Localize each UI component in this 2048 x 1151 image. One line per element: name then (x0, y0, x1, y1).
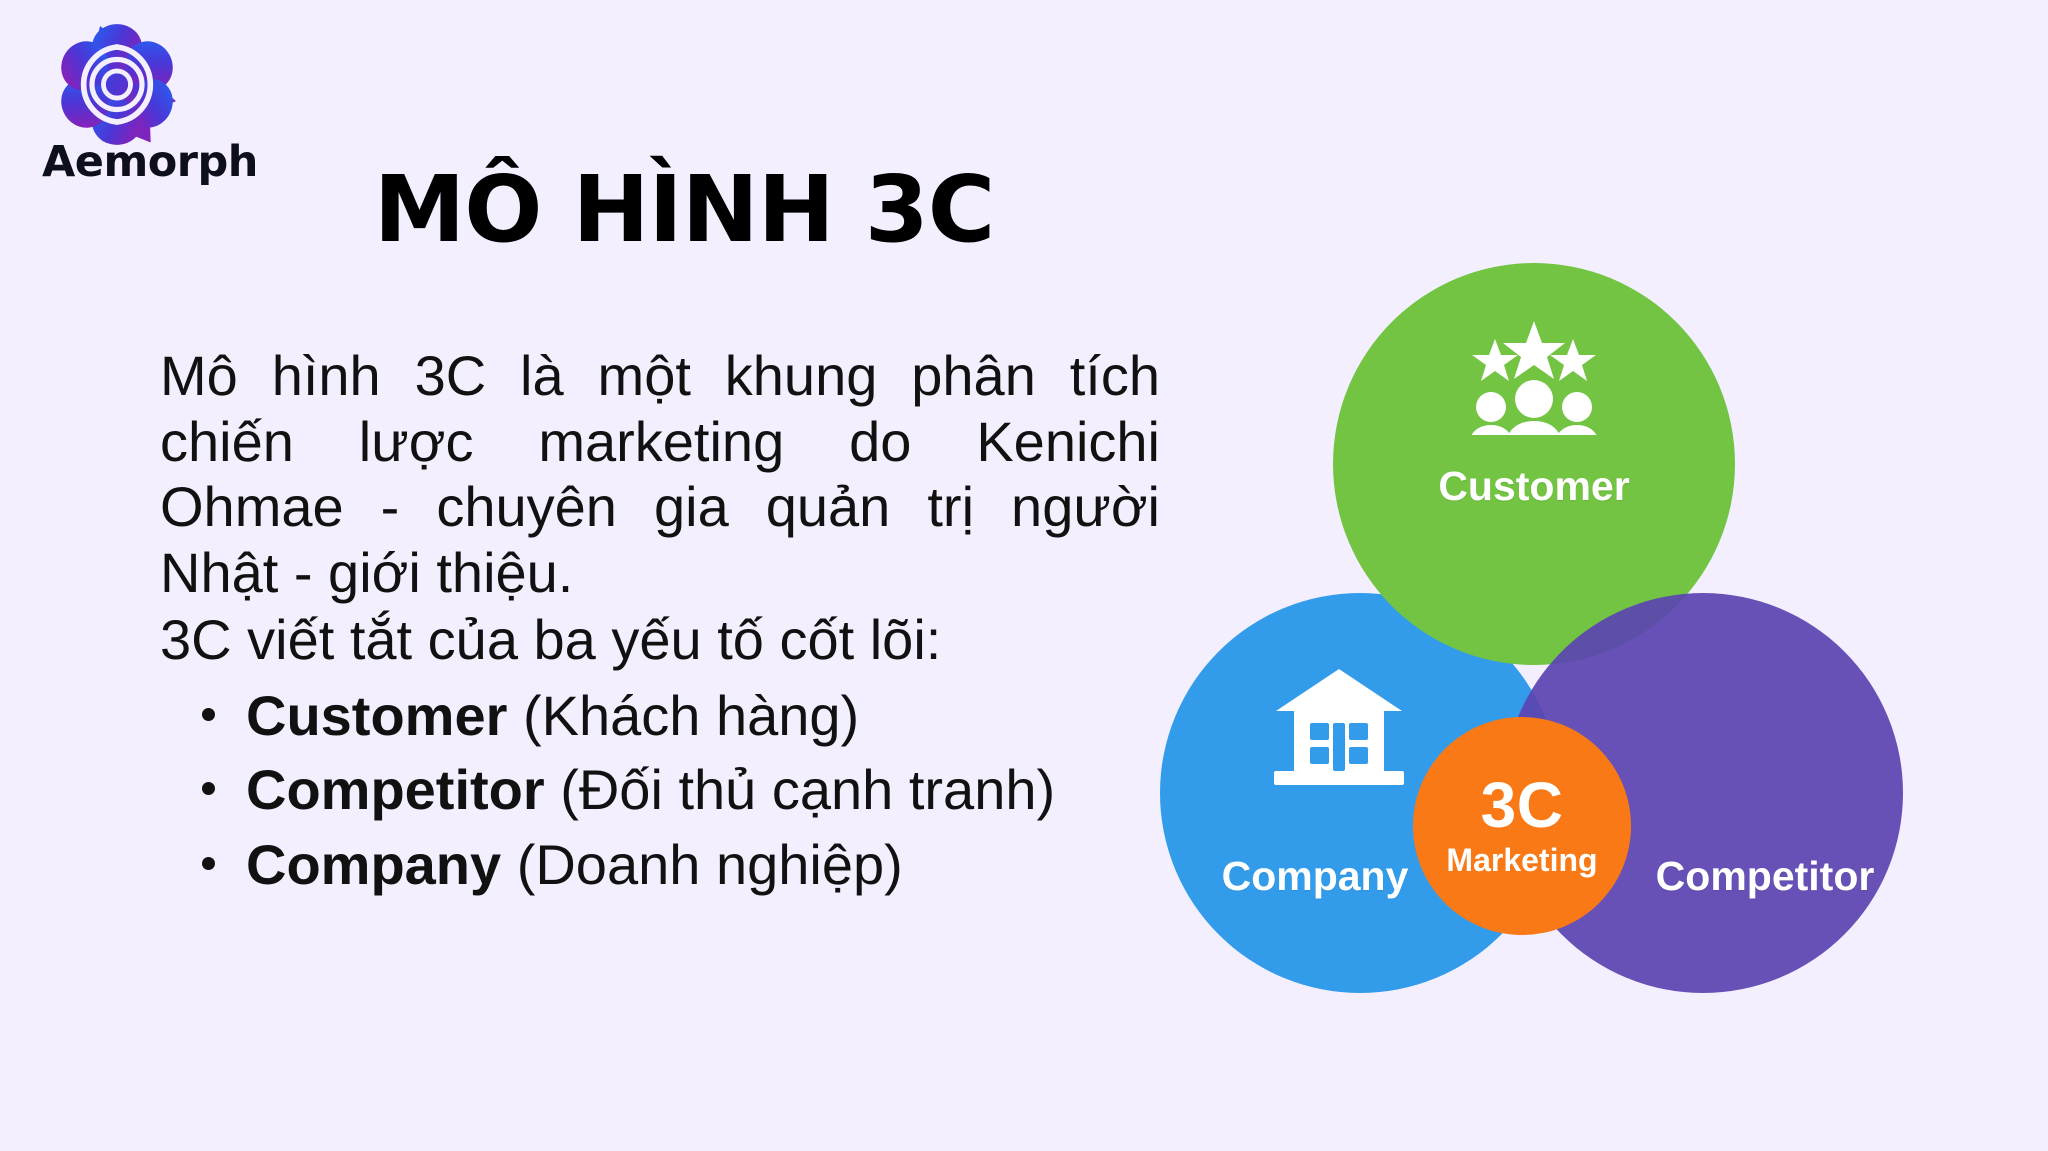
venn-label-competitor: Competitor (1615, 853, 1915, 900)
core-elements-list: Customer (Khách hàng) Competitor (Đối th… (160, 679, 1160, 902)
venn-label-company: Company (1184, 853, 1446, 900)
bullet-dot-icon (202, 708, 215, 721)
lead-paragraph: 3C viết tắt của ba yếu tố cốt lõi: (160, 607, 1160, 673)
center-subtitle: Marketing (1446, 843, 1597, 878)
page-title: MÔ HÌNH 3C (0, 162, 2048, 259)
list-item-gloss: (Đối thủ cạnh tranh) (545, 758, 1055, 821)
bullet-dot-icon (202, 857, 215, 870)
list-item: Customer (Khách hàng) (246, 679, 1160, 753)
list-item-term: Customer (246, 684, 507, 747)
center-title: 3C (1481, 773, 1564, 837)
list-item-gloss: (Doanh nghiệp) (501, 833, 903, 896)
building-house-icon (1274, 667, 1404, 791)
bullet-dot-icon (202, 782, 215, 795)
list-item: Competitor (Đối thủ cạnh tranh) (246, 753, 1160, 827)
intro-paragraph: Mô hình 3C là một khung phân tích chiến … (160, 343, 1160, 605)
venn-diagram: Customer Company Competitor 3C Marketing (1160, 255, 2048, 1055)
list-item-gloss: (Khách hàng) (507, 684, 859, 747)
people-stars-icon (1460, 317, 1608, 435)
brand-logo[interactable]: Aemorph (40, 22, 220, 184)
list-item-term: Company (246, 833, 501, 896)
venn-center-3c-marketing[interactable]: 3C Marketing (1413, 717, 1631, 935)
content-block: Mô hình 3C là một khung phân tích chiến … (160, 343, 1160, 902)
list-item: Company (Doanh nghiệp) (246, 828, 1160, 902)
slide-canvas: Aemorph MÔ HÌNH 3C Mô hình 3C là một khu… (0, 0, 2048, 1151)
aemorph-star-logo-icon (42, 22, 192, 147)
list-item-term: Competitor (246, 758, 545, 821)
venn-label-customer: Customer (1398, 463, 1670, 510)
